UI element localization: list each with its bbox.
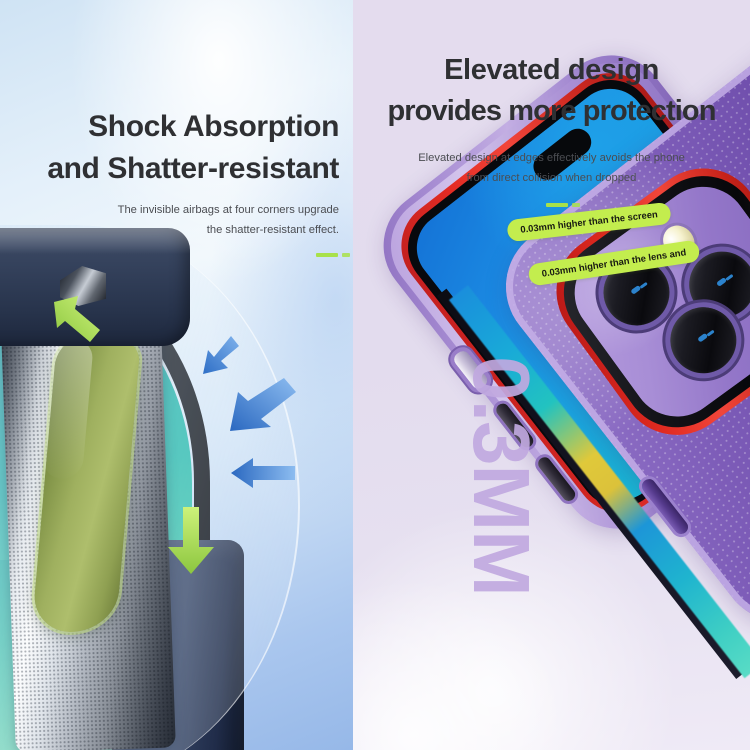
impact-arrow-2-icon bbox=[224, 375, 298, 437]
lens-glint bbox=[697, 332, 708, 342]
right-headline-line1: Elevated design bbox=[353, 50, 750, 91]
right-subtext-line1: Elevated design at edges effectively avo… bbox=[353, 148, 750, 168]
right-dash-accent-icon bbox=[546, 203, 580, 207]
thickness-watermark: 0.3MM bbox=[455, 311, 547, 641]
lens-glint bbox=[630, 285, 641, 295]
right-subtext: Elevated design at edges effectively avo… bbox=[353, 148, 750, 188]
left-headline: Shock Absorption and Shatter-resistant bbox=[0, 106, 353, 189]
expansion-arrow-up-icon bbox=[48, 292, 106, 348]
airbag-corner-cutaway-illustration bbox=[0, 240, 353, 750]
impact-arrow-3-icon bbox=[229, 458, 297, 488]
right-headline: Elevated design provides more protection bbox=[353, 50, 750, 132]
left-headline-line2: and Shatter-resistant bbox=[0, 148, 339, 190]
expansion-arrow-down-icon bbox=[166, 505, 216, 577]
left-headline-line1: Shock Absorption bbox=[0, 106, 339, 148]
lens-glint bbox=[716, 277, 727, 287]
left-subtext: The invisible airbags at four corners up… bbox=[0, 200, 353, 240]
product-marketing-image: 0.3MM bbox=[0, 0, 750, 750]
left-dash-accent-icon bbox=[316, 253, 350, 257]
left-subtext-line2: the shatter-resistant effect. bbox=[0, 220, 339, 240]
left-subtext-line1: The invisible airbags at four corners up… bbox=[0, 200, 339, 220]
right-headline-line2: provides more protection bbox=[353, 91, 750, 132]
right-subtext-line2: from direct collision when dropped bbox=[353, 168, 750, 188]
